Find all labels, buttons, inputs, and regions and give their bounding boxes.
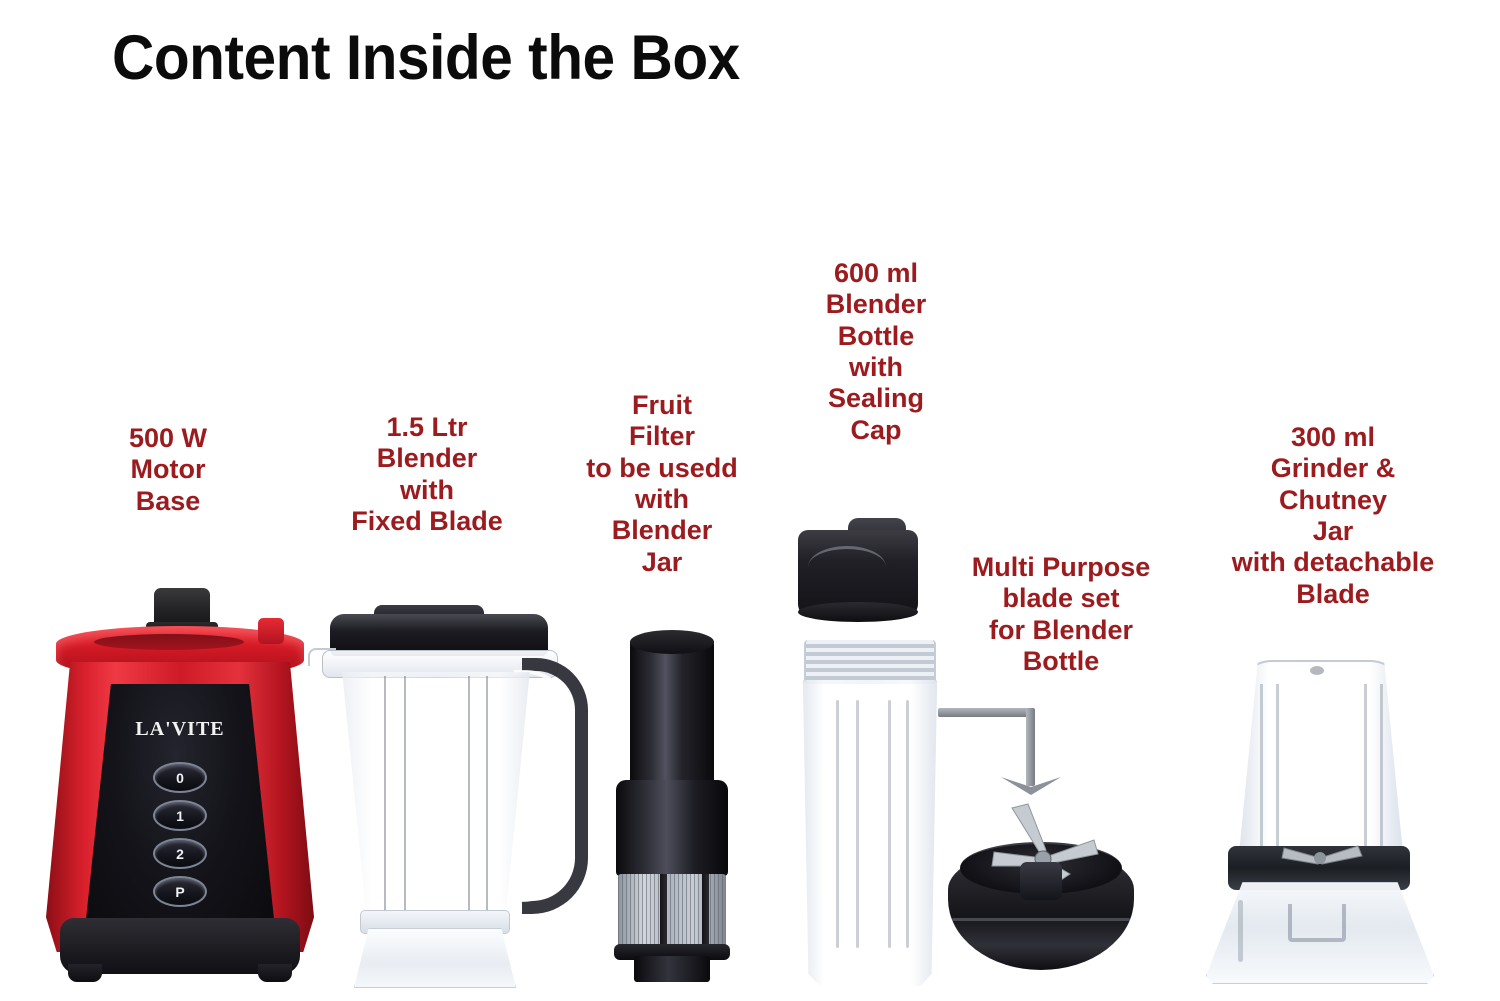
- caption-motor-base: 500 W Motor Base: [82, 423, 254, 517]
- caption-grinder-jar: 300 ml Grinder & Chutney Jar with detach…: [1210, 422, 1456, 610]
- infographic-page: Content Inside the Box 500 W Motor Base …: [0, 0, 1500, 1001]
- grinder-jar-rib: [1380, 684, 1383, 850]
- blade-drive-hub: [1020, 862, 1062, 900]
- speed-button-pulse[interactable]: P: [153, 876, 207, 907]
- filter-shoulder: [616, 780, 728, 876]
- product-blade-set: [938, 700, 1138, 988]
- bottle-threaded-neck: [804, 640, 936, 684]
- jar-rib: [486, 676, 488, 912]
- filter-foot: [634, 956, 710, 982]
- jar-rib: [468, 676, 470, 912]
- product-blender-bottle: [790, 530, 950, 986]
- product-motor-base: LA'VITE 0 1 2 P: [46, 588, 314, 988]
- blade-base-seam: [952, 918, 1130, 921]
- speed-button-0[interactable]: 0: [153, 762, 207, 793]
- motor-collar-slot: [94, 634, 244, 650]
- caption-blender-bottle: 600 ml Blender Bottle with Sealing Cap: [788, 258, 964, 446]
- bottle-flute: [888, 700, 891, 948]
- caption-blender-jar: 1.5 Ltr Blender with Fixed Blade: [322, 412, 532, 537]
- filter-mesh-screen: [618, 874, 726, 948]
- grinder-base-clip: [1288, 904, 1346, 942]
- filter-neck: [630, 640, 714, 788]
- pointer-arrow-horizontal: [938, 708, 1034, 717]
- speed-button-2[interactable]: 2: [153, 838, 207, 869]
- product-grinder-jar: [1202, 660, 1434, 986]
- bottle-flute: [836, 700, 839, 948]
- jar-rib: [384, 676, 386, 912]
- jar-spout: [308, 648, 336, 666]
- motor-collar-tab: [258, 618, 284, 644]
- bottle-flute: [856, 700, 859, 948]
- grinder-base-slot: [1238, 900, 1243, 962]
- grinder-jar-rib: [1276, 684, 1279, 850]
- motor-foot-right: [258, 964, 292, 982]
- filter-mesh-divider: [660, 874, 667, 948]
- sealing-cap-lip: [798, 602, 918, 622]
- page-title: Content Inside the Box: [112, 22, 740, 94]
- product-blender-jar: [308, 614, 588, 988]
- grinder-jar-rib: [1364, 684, 1367, 850]
- filter-mesh-divider: [702, 874, 709, 948]
- grinder-detachable-blade-icon: [1272, 842, 1368, 868]
- jar-base: [354, 928, 516, 988]
- brand-logo: LA'VITE: [84, 718, 276, 741]
- product-fruit-filter: [606, 630, 736, 982]
- caption-blade-set: Multi Purpose blade set for Blender Bott…: [956, 552, 1166, 677]
- bottle-body: [800, 680, 940, 986]
- speed-button-group: 0 1 2 P: [153, 762, 207, 907]
- pointer-arrow-head-icon: [1000, 776, 1062, 798]
- bottle-flute: [906, 700, 909, 948]
- caption-fruit-filter: Fruit Filter to be usedd with Blender Ja…: [562, 390, 762, 578]
- jar-rib: [404, 676, 406, 912]
- grinder-jar-rib: [1260, 684, 1263, 850]
- motor-foot-left: [68, 964, 102, 982]
- filter-top-rim: [630, 630, 714, 654]
- speed-button-1[interactable]: 1: [153, 800, 207, 831]
- jar-body: [334, 672, 538, 918]
- pointer-arrow-vertical: [1026, 708, 1035, 786]
- grinder-jar-nub: [1310, 666, 1324, 675]
